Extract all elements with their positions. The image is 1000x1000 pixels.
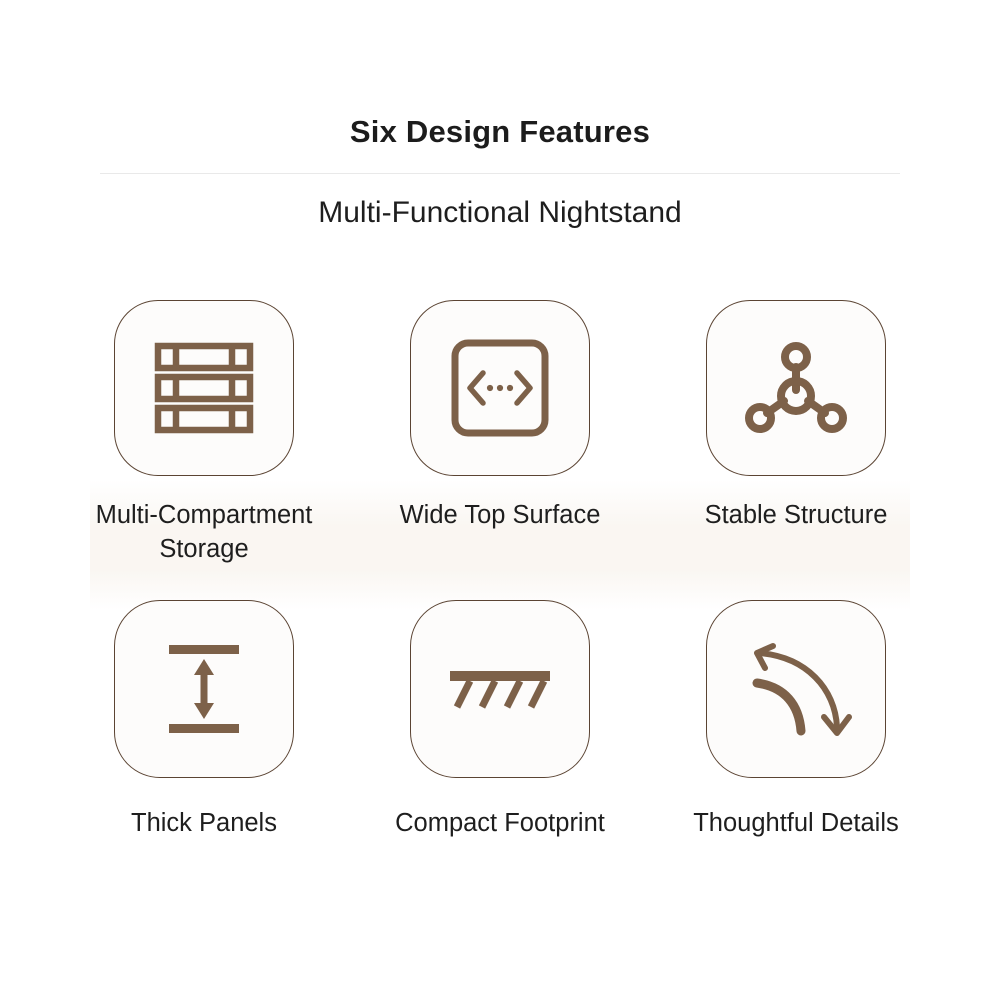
feature-item-compact-footprint[interactable]: Compact Footprint xyxy=(352,600,648,840)
feature-label: Stable Structure xyxy=(705,498,888,532)
page-subtitle: Multi-Functional Nightstand xyxy=(0,193,1000,234)
features-grid: Multi-Compartment Storage xyxy=(0,300,1000,890)
feature-item-stable-structure[interactable]: Stable Structure xyxy=(648,300,944,532)
molecule-node-structure-icon xyxy=(740,335,852,441)
feature-item-multi-compartment-storage[interactable]: Multi-Compartment Storage xyxy=(56,300,352,567)
feature-label: Wide Top Surface xyxy=(400,498,601,532)
feature-item-thoughtful-details[interactable]: Thoughtful Details xyxy=(648,600,944,840)
icon-card xyxy=(706,600,886,778)
multi-compartment-drawers-icon xyxy=(149,333,259,443)
icon-card xyxy=(706,300,886,476)
compact-footprint-legs-icon xyxy=(440,649,560,729)
icon-card xyxy=(410,600,590,778)
feature-item-wide-top-surface[interactable]: Wide Top Surface xyxy=(352,300,648,532)
panel-thickness-vertical-arrow-icon xyxy=(152,633,256,745)
curved-double-arrow-details-icon xyxy=(737,631,855,747)
icon-card xyxy=(410,300,590,476)
feature-label: Multi-Compartment Storage xyxy=(96,498,313,567)
feature-label: Compact Footprint xyxy=(395,806,605,840)
wide-surface-horizontal-arrows-icon xyxy=(448,336,552,440)
header-divider xyxy=(100,173,900,174)
feature-item-thick-panels[interactable]: Thick Panels xyxy=(56,600,352,840)
page-title: Six Design Features xyxy=(0,0,1000,147)
feature-row-2: Thick Panels Compact Footprint xyxy=(0,600,1000,890)
icon-card xyxy=(114,300,294,476)
feature-poster: Six Design Features Multi-Functional Nig… xyxy=(0,0,1000,1000)
feature-label: Thoughtful Details xyxy=(693,806,899,840)
icon-card xyxy=(114,600,294,778)
feature-label: Thick Panels xyxy=(131,806,277,840)
poster-header: Six Design Features Multi-Functional Nig… xyxy=(0,0,1000,147)
feature-row-1: Multi-Compartment Storage xyxy=(0,300,1000,600)
